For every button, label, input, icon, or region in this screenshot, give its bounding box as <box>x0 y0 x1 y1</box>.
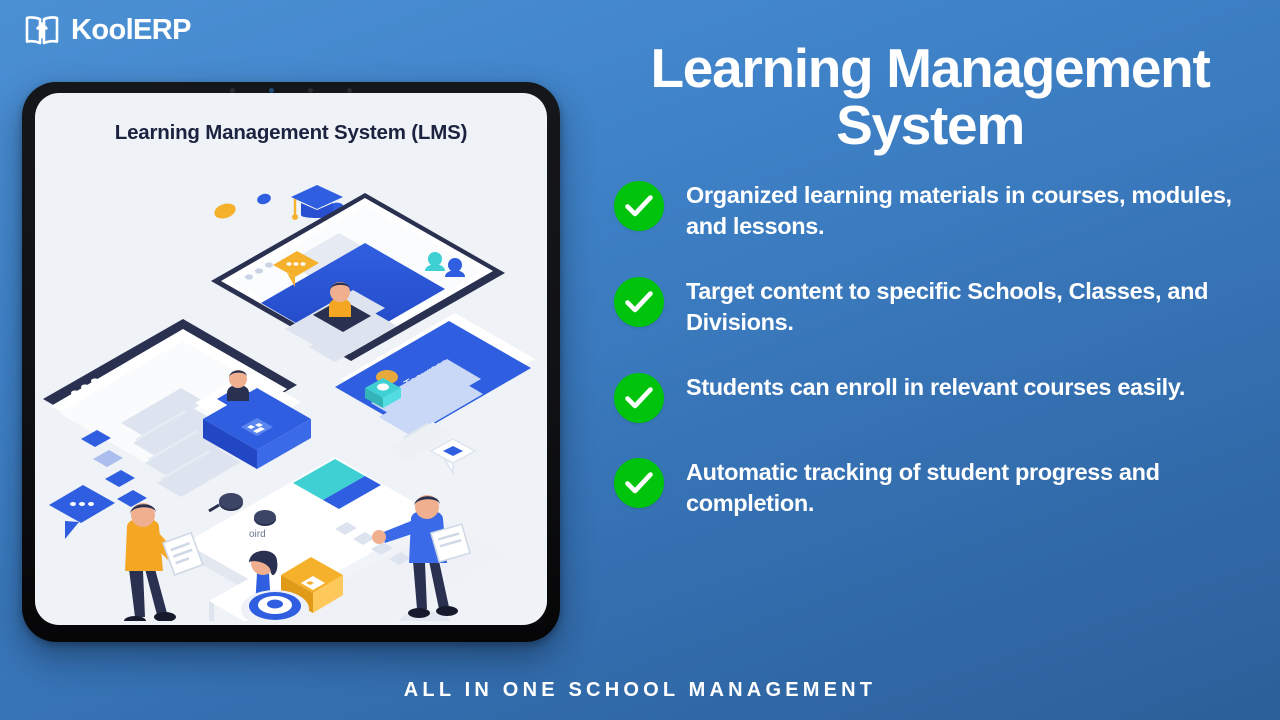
tablet-device: Learning Management System (LMS) <box>22 82 560 642</box>
card-title: Learning Management System (LMS) <box>35 121 547 145</box>
green-check-circle-icon <box>614 373 664 423</box>
list-item: Organized learning materials in courses,… <box>614 179 1264 242</box>
feature-text: Target content to specific Schools, Clas… <box>686 275 1264 338</box>
green-check-circle-icon <box>614 458 664 508</box>
feature-text: Students can enroll in relevant courses … <box>686 371 1185 403</box>
brand-name: KoolERP <box>71 16 191 45</box>
green-check-circle-icon <box>614 277 664 327</box>
footer-tagline: ALL IN ONE SCHOOL MANAGEMENT <box>0 679 1280 702</box>
list-item: Automatic tracking of student progress a… <box>614 456 1264 519</box>
content-column: Learning Management System Organized lea… <box>596 40 1264 519</box>
svg-text:oird: oird <box>249 529 266 540</box>
feature-text: Automatic tracking of student progress a… <box>686 456 1264 519</box>
list-item: Students can enroll in relevant courses … <box>614 371 1264 423</box>
brand-logo: KoolERP <box>24 8 191 52</box>
page-title: Learning Management System <box>596 40 1264 153</box>
isometric-e-learning-illustration: Teourser <box>35 151 547 621</box>
list-item: Target content to specific Schools, Clas… <box>614 275 1264 338</box>
open-book-with-up-arrow-icon <box>24 13 60 47</box>
feature-list: Organized learning materials in courses,… <box>596 179 1264 519</box>
headline-line-2: System <box>596 97 1264 154</box>
tablet-screen: Learning Management System (LMS) <box>35 93 547 625</box>
feature-text: Organized learning materials in courses,… <box>686 179 1264 242</box>
green-check-circle-icon <box>614 181 664 231</box>
headline-line-1: Learning Management <box>650 37 1209 99</box>
